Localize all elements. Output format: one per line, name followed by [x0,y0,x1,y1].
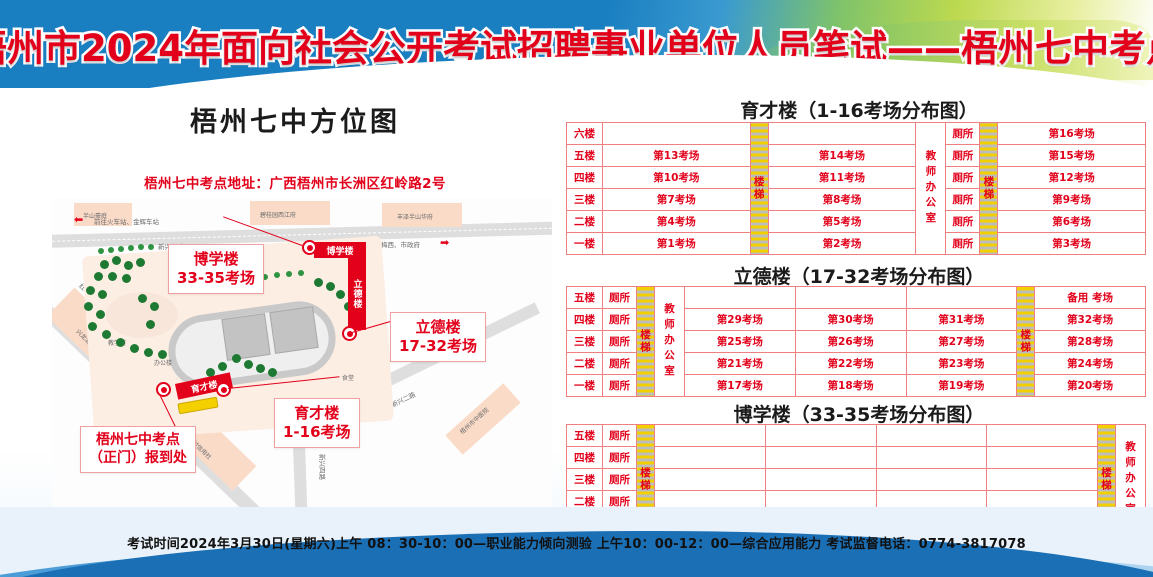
cell-floor: 六楼 [567,123,603,145]
cell-room-d [987,469,1098,491]
cell-restroom: 厕所 [603,447,637,469]
cell-room-c: 第31考场 [906,309,1017,331]
cell-restroom: 厕所 [946,167,980,189]
cell-room-a [655,469,766,491]
road-label-xinxing-4: 新兴四路 [318,454,328,480]
cell-restroom: 厕所 [603,425,637,447]
cell-office: 教师办公室 [655,287,685,397]
cell-floor: 二楼 [567,211,603,233]
cell-floor: 二楼 [567,353,603,375]
cell-room-b: 第18考场 [795,375,906,397]
cell-room-a: 第13考场 [603,145,751,167]
table-row: 五楼 厕所 楼梯 教师办公室 楼梯 备用 考场 [567,287,1146,309]
table-row: 一楼 第1考场 第2考场 厕所 第3考场 [567,233,1146,255]
poi-label-biguiyuan: 碧桂园西江府 [260,210,296,219]
table-row: 二楼 第4考场 第5考场 厕所 第6考场 [567,211,1146,233]
cell-room-b: 第5考场 [768,211,916,233]
cell-room-b: 第2考场 [768,233,916,255]
cell-room-c: 第3考场 [998,233,1146,255]
cell-room-c: 第23考场 [906,353,1017,375]
cell-stair-right: 楼梯 [980,123,998,255]
table-row: 五楼 第13考场 第14考场 厕所 第15考场 [567,145,1146,167]
cell-room-b [795,287,906,309]
table-row: 三楼 第7考场 第8考场 厕所 第9考场 [567,189,1146,211]
cell-floor: 四楼 [567,447,603,469]
cell-floor: 一楼 [567,233,603,255]
callout-main-gate: 梧州七中考点 （正门）报到处 [80,426,196,473]
cell-room-a: 第17考场 [685,375,796,397]
cell-stair-left: 楼梯 [750,123,768,255]
cell-room-d [987,425,1098,447]
cell-floor: 三楼 [567,331,603,353]
table-title-lide: 立德楼（17-32考场分布图） [565,262,1153,289]
cell-room-c [876,469,987,491]
cell-restroom: 厕所 [946,145,980,167]
cell-room-b: 第11考场 [768,167,916,189]
cell-floor: 五楼 [567,425,603,447]
campus-label-office: 办公楼 [154,358,172,367]
callout-lide-line1: 立德楼 [399,318,477,337]
cell-room-c: 第9考场 [998,189,1146,211]
cell-room-c: 第16考场 [998,123,1146,145]
map-heading: 梧州七中方位图 [60,100,530,139]
cell-room-c [876,425,987,447]
callout-main-gate-line2: （正门）报到处 [89,450,187,468]
cell-restroom: 厕所 [946,233,980,255]
table-row: 五楼 厕所 楼梯 楼梯 教师办公室 [567,425,1146,447]
map-building-lide: 立德楼 [348,258,366,330]
cell-floor: 五楼 [567,145,603,167]
basketball-court-2 [269,306,318,354]
cell-restroom: 厕所 [603,309,637,331]
callout-boxue-line2: 33-35考场 [177,269,255,288]
map-pin-yucai[interactable] [216,382,231,397]
cell-floor: 四楼 [567,309,603,331]
cell-floor: 三楼 [567,189,603,211]
callout-boxue: 博学楼 33-35考场 [168,244,264,294]
cell-room-b [765,425,876,447]
page-banner: 梧州市2024年面向社会公开考试招聘事业单位人员笔试——梧州七中考点 [0,0,1153,90]
cell-room-a: 第1考场 [603,233,751,255]
plan-table-lide: 五楼 厕所 楼梯 教师办公室 楼梯 备用 考场 四楼 厕所 第29考场 第30考… [566,286,1146,397]
cell-restroom: 厕所 [946,123,980,145]
arrow-left-icon-station: ⬅ [74,215,83,226]
map-pin-lide[interactable] [342,326,357,341]
cell-room-c [906,287,1017,309]
callout-lide-line2: 17-32考场 [399,337,477,356]
cell-room-d: 第32考场 [1035,309,1146,331]
callout-lide: 立德楼 17-32考场 [390,312,486,362]
cell-room-c: 第12考场 [998,167,1146,189]
cell-room-b: 第8考场 [768,189,916,211]
table-row: 六楼 楼梯 教师办公室 厕所 楼梯 第16考场 [567,123,1146,145]
callout-yucai-line2: 1-16考场 [283,423,351,442]
direction-note-to-station: 前往火车站、金辉车站 [94,216,159,226]
cell-room-b [765,447,876,469]
campus-label-canteen: 食堂 [342,373,354,382]
cell-stair-right: 楼梯 [1017,287,1035,397]
cell-room-a: 第4考场 [603,211,751,233]
cell-room-a: 第25考场 [685,331,796,353]
cell-room-c: 第15考场 [998,145,1146,167]
map-pin-main-gate[interactable] [156,382,171,397]
road-label-xinxing-2: 新兴二路 [389,389,417,409]
cell-restroom: 厕所 [603,469,637,491]
plan-table-yucai: 六楼 楼梯 教师办公室 厕所 楼梯 第16考场 五楼 第13考场 第14考场 厕… [566,122,1146,255]
cell-floor: 四楼 [567,167,603,189]
cell-room-a: 第29考场 [685,309,796,331]
map-address: 梧州七中考点地址：广西梧州市长洲区红岭路2号 [60,172,530,192]
cell-room-d: 第28考场 [1035,331,1146,353]
cell-room-d [987,447,1098,469]
cell-restroom: 厕所 [603,331,637,353]
callout-yucai: 育才楼 1-16考场 [274,398,360,448]
callout-main-gate-line1: 梧州七中考点 [89,432,187,450]
cell-floor: 三楼 [567,469,603,491]
cell-room-a [685,287,796,309]
footer-exam-time-text: 考试时间2024年3月30日(星期六)上午 08：30-10：00—职业能力倾向… [0,533,1153,552]
cell-room-a [655,425,766,447]
cell-room-a [655,447,766,469]
basketball-court-1 [221,313,270,361]
cell-restroom: 厕所 [946,189,980,211]
cell-room-b: 第14考场 [768,145,916,167]
map-pin-boxue[interactable] [302,240,317,255]
cell-restroom: 厕所 [603,375,637,397]
arrow-right-icon-meixi: ➡ [440,238,449,249]
cell-room-b: 第22考场 [795,353,906,375]
cell-room-d: 第24考场 [1035,353,1146,375]
cell-floor: 五楼 [567,287,603,309]
cell-room-d: 第20考场 [1035,375,1146,397]
cell-room-a: 第10考场 [603,167,751,189]
callout-boxue-line1: 博学楼 [177,250,255,269]
table-row: 四楼 第10考场 第11考场 厕所 第12考场 [567,167,1146,189]
table-title-yucai: 育才楼（1-16考场分布图） [565,96,1153,123]
callout-yucai-line1: 育才楼 [283,404,351,423]
page-title: 梧州市2024年面向社会公开考试招聘事业单位人员笔试——梧州七中考点 [0,0,1153,90]
map-building-boxue: 博学楼 [314,242,366,258]
cell-office: 教师办公室 [916,123,946,255]
cell-room-b: 第30考场 [795,309,906,331]
poi-hospital [445,383,520,455]
cell-room-c: 第27考场 [906,331,1017,353]
cell-restroom: 厕所 [946,211,980,233]
cell-room-a [603,123,751,145]
cell-room-d: 备用 考场 [1035,287,1146,309]
cell-room-c [876,447,987,469]
cell-room-b [765,469,876,491]
cell-restroom: 厕所 [603,287,637,309]
cell-restroom: 厕所 [603,353,637,375]
cell-room-a: 第7考场 [603,189,751,211]
cell-room-b [768,123,916,145]
poi-label-fengze: 丰泽半山华府 [397,212,433,221]
table-title-boxue: 博学楼（33-35考场分布图） [565,400,1153,427]
cell-floor: 一楼 [567,375,603,397]
cell-room-c: 第19考场 [906,375,1017,397]
cell-stair-left: 楼梯 [637,287,655,397]
cell-room-a: 第21考场 [685,353,796,375]
cell-room-b: 第26考场 [795,331,906,353]
cell-room-c: 第6考场 [998,211,1146,233]
